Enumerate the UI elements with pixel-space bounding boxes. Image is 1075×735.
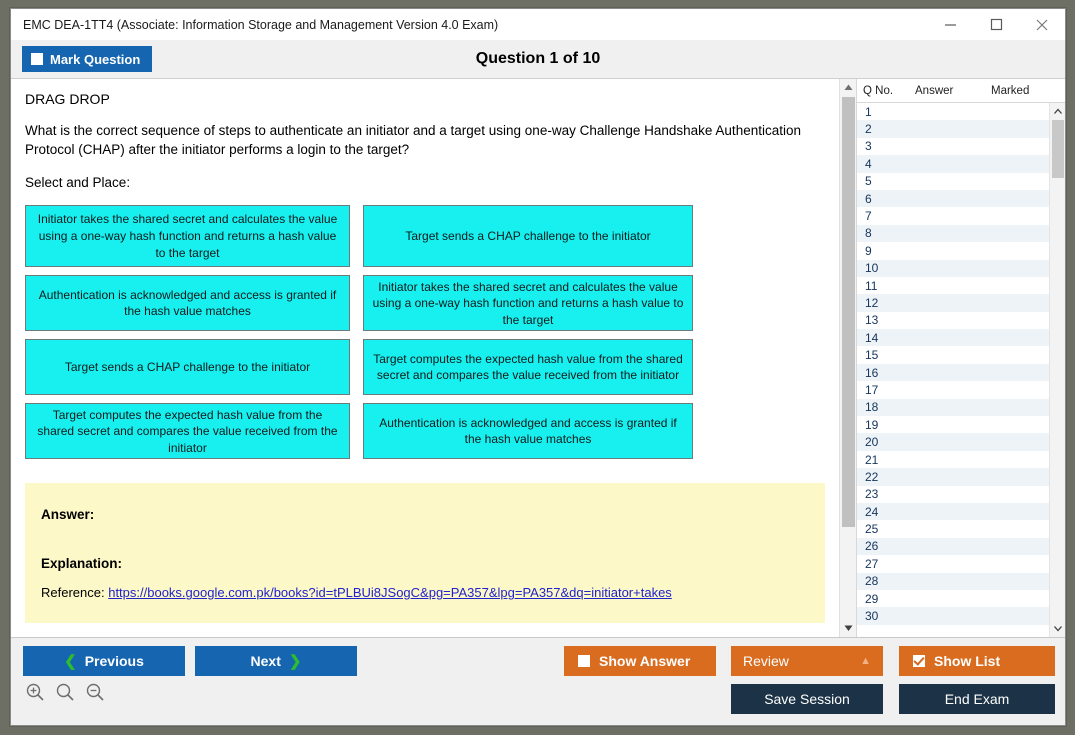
content-scrollbar-thumb[interactable] <box>842 97 855 527</box>
footer-toolbar: ❮ Previous Next ❯ Show Answer Review ▲ S… <box>11 637 1065 725</box>
question-number: 19 <box>865 418 909 432</box>
question-list-row[interactable]: 21 <box>857 451 1049 468</box>
drop-item[interactable]: Target computes the expected hash value … <box>363 339 693 395</box>
reference-label: Reference: <box>41 585 105 600</box>
question-number: 27 <box>865 557 909 571</box>
drop-item[interactable]: Authentication is acknowledged and acces… <box>363 403 693 459</box>
question-number: 6 <box>865 192 909 206</box>
previous-button[interactable]: ❮ Previous <box>23 646 185 676</box>
question-type-label: DRAG DROP <box>25 91 825 107</box>
mark-question-label: Mark Question <box>50 52 140 67</box>
question-list-row[interactable]: 10 <box>857 260 1049 277</box>
question-number: 12 <box>865 296 909 310</box>
question-number: 29 <box>865 592 909 606</box>
drag-item[interactable]: Initiator takes the shared secret and ca… <box>25 205 350 267</box>
question-list-row[interactable]: 1 <box>857 103 1049 120</box>
question-number: 30 <box>865 609 909 623</box>
question-number: 23 <box>865 487 909 501</box>
question-list-row[interactable]: 13 <box>857 312 1049 329</box>
question-list-body: 1234567891011121314151617181920212223242… <box>857 103 1065 637</box>
question-list-row[interactable]: 23 <box>857 486 1049 503</box>
drop-item[interactable]: Target sends a CHAP challenge to the ini… <box>363 205 693 267</box>
question-number: 9 <box>865 244 909 258</box>
question-number: 15 <box>865 348 909 362</box>
question-list-row[interactable]: 20 <box>857 433 1049 450</box>
question-list-row[interactable]: 9 <box>857 242 1049 259</box>
show-list-checkbox-icon[interactable] <box>913 655 925 667</box>
list-scroll-up-icon[interactable] <box>1050 103 1065 120</box>
question-list-row[interactable]: 14 <box>857 329 1049 346</box>
question-number: 25 <box>865 522 909 536</box>
previous-label: Previous <box>85 653 144 669</box>
question-list-row[interactable]: 8 <box>857 225 1049 242</box>
title-bar: EMC DEA-1TT4 (Associate: Information Sto… <box>11 9 1065 40</box>
chevron-left-icon: ❮ <box>64 654 77 669</box>
header-bar: Mark Question Question 1 of 10 <box>11 40 1065 78</box>
drag-item[interactable]: Target sends a CHAP challenge to the ini… <box>25 339 350 395</box>
chevron-up-icon: ▲ <box>860 655 871 667</box>
window-title: EMC DEA-1TT4 (Associate: Information Sto… <box>11 18 498 32</box>
question-list-row[interactable]: 27 <box>857 555 1049 572</box>
zoom-reset-icon[interactable] <box>55 682 75 707</box>
question-list-rows: 1234567891011121314151617181920212223242… <box>857 103 1049 637</box>
show-list-label: Show List <box>934 653 1000 669</box>
minimize-icon[interactable] <box>927 9 973 40</box>
question-list-row[interactable]: 3 <box>857 138 1049 155</box>
question-number: 13 <box>865 313 909 327</box>
question-number: 20 <box>865 435 909 449</box>
reference-line: Reference: https://books.google.com.pk/b… <box>41 585 809 600</box>
question-number: 26 <box>865 539 909 553</box>
question-number: 28 <box>865 574 909 588</box>
question-number: 11 <box>865 279 909 293</box>
drag-item[interactable]: Authentication is acknowledged and acces… <box>25 275 350 331</box>
list-scroll-down-icon[interactable] <box>1050 620 1065 637</box>
reference-link[interactable]: https://books.google.com.pk/books?id=tPL… <box>108 585 672 600</box>
question-list-row[interactable]: 29 <box>857 590 1049 607</box>
question-number: 17 <box>865 383 909 397</box>
question-instruction: Select and Place: <box>25 175 825 190</box>
drag-item[interactable]: Target computes the expected hash value … <box>25 403 350 459</box>
end-exam-button[interactable]: End Exam <box>899 684 1055 714</box>
question-number: 14 <box>865 331 909 345</box>
mark-question-button[interactable]: Mark Question <box>22 46 152 72</box>
column-header-answer: Answer <box>915 85 991 97</box>
show-answer-label: Show Answer <box>599 653 690 669</box>
question-list-row[interactable]: 16 <box>857 364 1049 381</box>
question-number: 22 <box>865 470 909 484</box>
scroll-down-icon[interactable] <box>840 620 856 637</box>
drag-drop-source-column: Initiator takes the shared secret and ca… <box>25 205 350 459</box>
question-number: 18 <box>865 400 909 414</box>
drag-drop-target-column: Target sends a CHAP challenge to the ini… <box>363 205 693 459</box>
content-scrollbar[interactable] <box>839 79 856 637</box>
question-number: 8 <box>865 226 909 240</box>
show-answer-button[interactable]: Show Answer <box>564 646 716 676</box>
question-list-scrollbar-thumb[interactable] <box>1052 120 1064 178</box>
zoom-out-icon[interactable] <box>85 682 105 707</box>
close-icon[interactable] <box>1019 9 1065 40</box>
question-number: 2 <box>865 122 909 136</box>
next-button[interactable]: Next ❯ <box>195 646 357 676</box>
question-number: 16 <box>865 366 909 380</box>
question-content-pane: DRAG DROP What is the correct sequence o… <box>11 79 839 637</box>
column-header-qno: Q No. <box>863 85 915 97</box>
question-content-inner: DRAG DROP What is the correct sequence o… <box>11 79 839 623</box>
answer-heading: Answer: <box>41 507 809 522</box>
question-list-row[interactable]: 24 <box>857 503 1049 520</box>
question-number: 3 <box>865 139 909 153</box>
mark-question-checkbox-icon[interactable] <box>31 53 43 65</box>
question-number: 4 <box>865 157 909 171</box>
explanation-heading: Explanation: <box>41 556 809 571</box>
review-label: Review <box>743 653 789 669</box>
question-list-row[interactable]: 18 <box>857 399 1049 416</box>
question-number: 10 <box>865 261 909 275</box>
zoom-in-icon[interactable] <box>25 682 45 707</box>
question-list-scrollbar[interactable] <box>1049 103 1065 637</box>
question-list-row[interactable]: 11 <box>857 277 1049 294</box>
question-list-row[interactable]: 17 <box>857 381 1049 398</box>
next-label: Next <box>251 653 281 669</box>
question-list-row[interactable]: 15 <box>857 346 1049 363</box>
question-number: 21 <box>865 453 909 467</box>
drop-item[interactable]: Initiator takes the shared secret and ca… <box>363 275 693 331</box>
save-session-label: Save Session <box>764 691 850 707</box>
question-list-row[interactable]: 7 <box>857 207 1049 224</box>
question-number: 5 <box>865 174 909 188</box>
question-list-row[interactable]: 30 <box>857 607 1049 624</box>
question-text: What is the correct sequence of steps to… <box>25 121 815 159</box>
question-number: 24 <box>865 505 909 519</box>
exam-window: EMC DEA-1TT4 (Associate: Information Sto… <box>10 8 1066 726</box>
zoom-toolbar <box>25 682 105 707</box>
show-answer-checkbox-icon[interactable] <box>578 655 590 667</box>
question-list-header: Q No. Answer Marked <box>857 79 1065 103</box>
question-number: 7 <box>865 209 909 223</box>
answer-explanation-panel: Answer: Explanation: Reference: https://… <box>25 483 825 623</box>
question-list-row[interactable]: 12 <box>857 294 1049 311</box>
question-list-row[interactable]: 19 <box>857 416 1049 433</box>
question-list-row[interactable]: 26 <box>857 538 1049 555</box>
question-list-row[interactable]: 5 <box>857 173 1049 190</box>
question-list-row[interactable]: 4 <box>857 155 1049 172</box>
question-list-row[interactable]: 25 <box>857 520 1049 537</box>
question-number: 1 <box>865 105 909 119</box>
maximize-icon[interactable] <box>973 9 1019 40</box>
chevron-right-icon: ❯ <box>289 654 302 669</box>
scroll-up-icon[interactable] <box>840 79 856 96</box>
question-list-row[interactable]: 6 <box>857 190 1049 207</box>
end-exam-label: End Exam <box>945 691 1010 707</box>
question-list-row[interactable]: 22 <box>857 468 1049 485</box>
question-list-pane: Q No. Answer Marked 12345678910111213141… <box>856 79 1065 637</box>
save-session-button[interactable]: Save Session <box>731 684 883 714</box>
drag-drop-grid: Initiator takes the shared secret and ca… <box>25 205 825 459</box>
review-dropdown[interactable]: Review ▲ <box>731 646 883 676</box>
question-counter: Question 1 of 10 <box>11 50 1065 68</box>
question-list-row[interactable]: 28 <box>857 573 1049 590</box>
question-list-row[interactable]: 2 <box>857 120 1049 137</box>
column-header-marked: Marked <box>991 85 1061 97</box>
show-list-button[interactable]: Show List <box>899 646 1055 676</box>
body-area: DRAG DROP What is the correct sequence o… <box>11 78 1065 637</box>
